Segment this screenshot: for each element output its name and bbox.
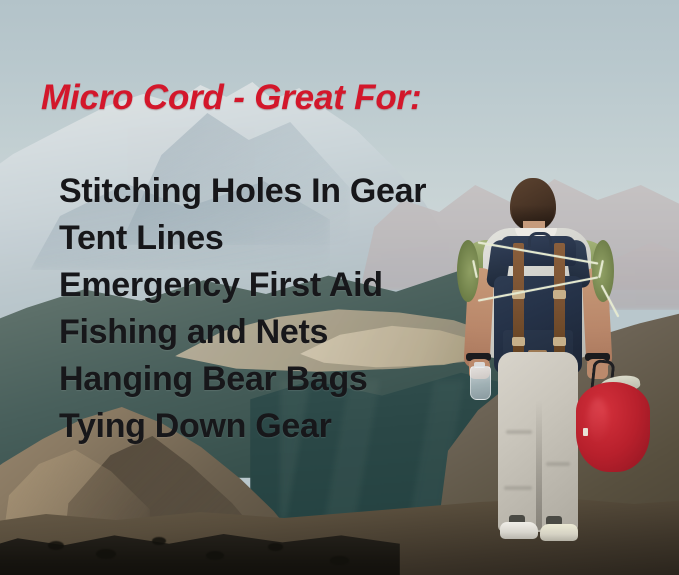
stuff-sack-tag [583,428,588,436]
product-poster: Micro Cord - Great For: Stitching Holes … [0,0,679,575]
sleeping-mat-end-right [592,240,614,302]
use-case-item: Tent Lines [59,215,499,262]
stuff-sack [576,382,650,472]
pants-fold [506,430,532,434]
backpack-buckle [512,337,525,346]
pants-fold [546,462,570,466]
use-case-list: Stitching Holes In Gear Tent Lines Emerg… [59,168,499,450]
backpack-buckle [553,290,566,299]
use-case-item: Stitching Holes In Gear [59,168,499,215]
poster-title: Micro Cord - Great For: [41,78,421,118]
backpack-grab-handle [528,232,552,247]
pants-inseam [536,400,542,530]
use-case-item: Hanging Bear Bags [59,356,499,403]
use-case-item: Tying Down Gear [59,403,499,450]
hiker-shoe-left [500,522,538,539]
backpack-buckle [553,337,566,346]
use-case-item: Emergency First Aid [59,262,499,309]
pants-fold [504,486,532,490]
hiker-shoe-right [540,524,578,541]
use-case-item: Fishing and Nets [59,309,499,356]
stuff-sack-highlight [588,398,608,442]
